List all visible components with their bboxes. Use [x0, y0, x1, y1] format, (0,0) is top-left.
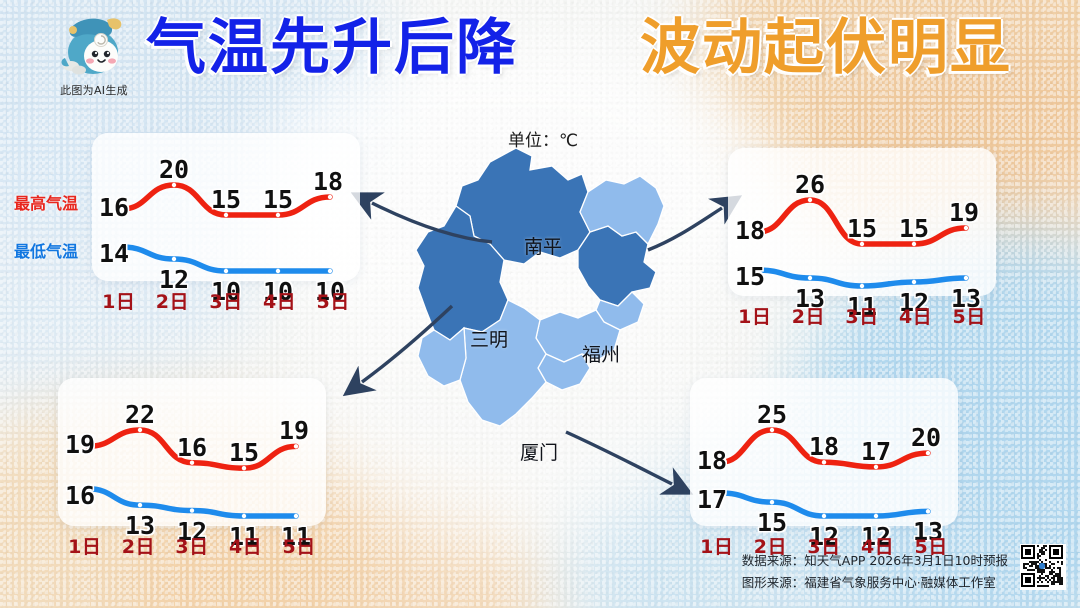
legend-high-temp: 最高气温	[14, 190, 78, 214]
series-line-low	[122, 247, 330, 271]
footer-graphic-source: 图形来源：福建省气象服务中心·融媒体工作室	[742, 572, 1008, 594]
weather-mascot-icon	[57, 14, 131, 80]
mascot-block: 此图为AI生成	[44, 14, 144, 98]
high-value-1: 26	[795, 170, 825, 199]
page-title-sub: 波动起伏明显	[640, 18, 1012, 78]
temperature-chart-nanping: 162015151814121010101日2日3日4日5日	[92, 133, 360, 315]
footer-sources: 数据来源：知天气APP 2026年3月1日10时预报 图形来源：福建省气象服务中…	[742, 550, 1008, 594]
high-value-1: 22	[125, 400, 155, 429]
high-value-0: 16	[99, 193, 129, 222]
day-label-4: 5日	[272, 532, 326, 559]
temperature-chart-fuzhou: 182615151915131112131日2日3日4日5日	[728, 148, 996, 330]
data-point-low-1	[138, 503, 142, 507]
high-value-4: 18	[313, 167, 343, 196]
high-value-4: 19	[279, 416, 309, 445]
data-point-low-3	[242, 514, 246, 518]
high-value-0: 18	[735, 216, 765, 245]
fujian-map: 南平三明福州厦门	[412, 140, 712, 510]
footer-data-source: 数据来源：知天气APP 2026年3月1日10时预报	[742, 550, 1008, 572]
data-point-low-2	[190, 508, 194, 512]
ai-generated-note: 此图为AI生成	[44, 82, 144, 98]
day-label-1: 2日	[782, 302, 836, 329]
day-label-0: 1日	[690, 532, 744, 559]
day-label-1: 2日	[112, 532, 166, 559]
data-point-low-2	[822, 514, 826, 518]
high-value-0: 19	[65, 430, 95, 459]
day-axis-sanming: 1日2日3日4日5日	[58, 532, 326, 559]
day-label-0: 1日	[58, 532, 112, 559]
high-value-0: 18	[697, 446, 727, 475]
day-label-0: 1日	[728, 302, 782, 329]
day-axis-fuzhou: 1日2日3日4日5日	[728, 302, 996, 329]
temperature-chart-sanming: 192216151916131211111日2日3日4日5日	[58, 378, 326, 560]
day-label-3: 4日	[219, 532, 273, 559]
day-label-4: 5日	[942, 302, 996, 329]
series-line-low	[758, 270, 966, 286]
high-value-4: 20	[911, 423, 941, 452]
infographic-root: 此图为AI生成 气温先升后降 波动起伏明显 单位：℃ 最高气温 最低气温 南平三…	[0, 0, 1080, 608]
data-point-low-2	[860, 284, 864, 288]
data-point-low-1	[808, 276, 812, 280]
map-city-label-0: 南平	[524, 232, 562, 259]
map-city-label-2: 福州	[582, 340, 620, 367]
temperature-chart-xiamen: 182518172017151212131日2日3日4日5日	[690, 378, 958, 560]
high-value-2: 16	[177, 433, 207, 462]
legend-low-temp: 最低气温	[14, 238, 78, 262]
high-value-3: 15	[899, 214, 929, 243]
high-value-2: 18	[809, 432, 839, 461]
series-line-low	[720, 493, 928, 516]
data-point-low-1	[770, 500, 774, 504]
high-value-4: 19	[949, 198, 979, 227]
day-label-3: 4日	[253, 287, 307, 314]
data-point-low-4	[328, 269, 332, 273]
day-label-3: 4日	[889, 302, 943, 329]
high-value-2: 15	[847, 214, 877, 243]
high-value-2: 15	[211, 185, 241, 214]
map-city-label-3: 厦门	[520, 438, 558, 465]
data-point-low-2	[224, 269, 228, 273]
day-label-2: 3日	[165, 532, 219, 559]
data-point-low-4	[926, 509, 930, 513]
low-value-0: 14	[99, 239, 129, 268]
qr-code[interactable]	[1020, 544, 1066, 590]
data-point-low-1	[172, 257, 176, 261]
high-value-3: 15	[229, 438, 259, 467]
low-value-0: 17	[697, 485, 727, 514]
day-axis-nanping: 1日2日3日4日5日	[92, 287, 360, 314]
map-city-label-1: 三明	[470, 325, 508, 352]
page-title-main: 气温先升后降	[146, 18, 518, 78]
day-label-2: 3日	[199, 287, 253, 314]
data-point-low-3	[912, 280, 916, 284]
day-label-2: 3日	[835, 302, 889, 329]
high-value-1: 25	[757, 400, 787, 429]
data-point-low-4	[964, 276, 968, 280]
high-value-3: 17	[861, 437, 891, 466]
day-label-0: 1日	[92, 287, 146, 314]
data-point-low-4	[294, 514, 298, 518]
day-label-1: 2日	[146, 287, 200, 314]
data-point-low-3	[874, 514, 878, 518]
high-value-1: 20	[159, 155, 189, 184]
map-region-longyan	[418, 328, 466, 386]
day-label-4: 5日	[306, 287, 360, 314]
low-value-0: 16	[65, 481, 95, 510]
high-value-3: 15	[263, 185, 293, 214]
data-point-low-3	[276, 269, 280, 273]
low-value-0: 15	[735, 262, 765, 291]
